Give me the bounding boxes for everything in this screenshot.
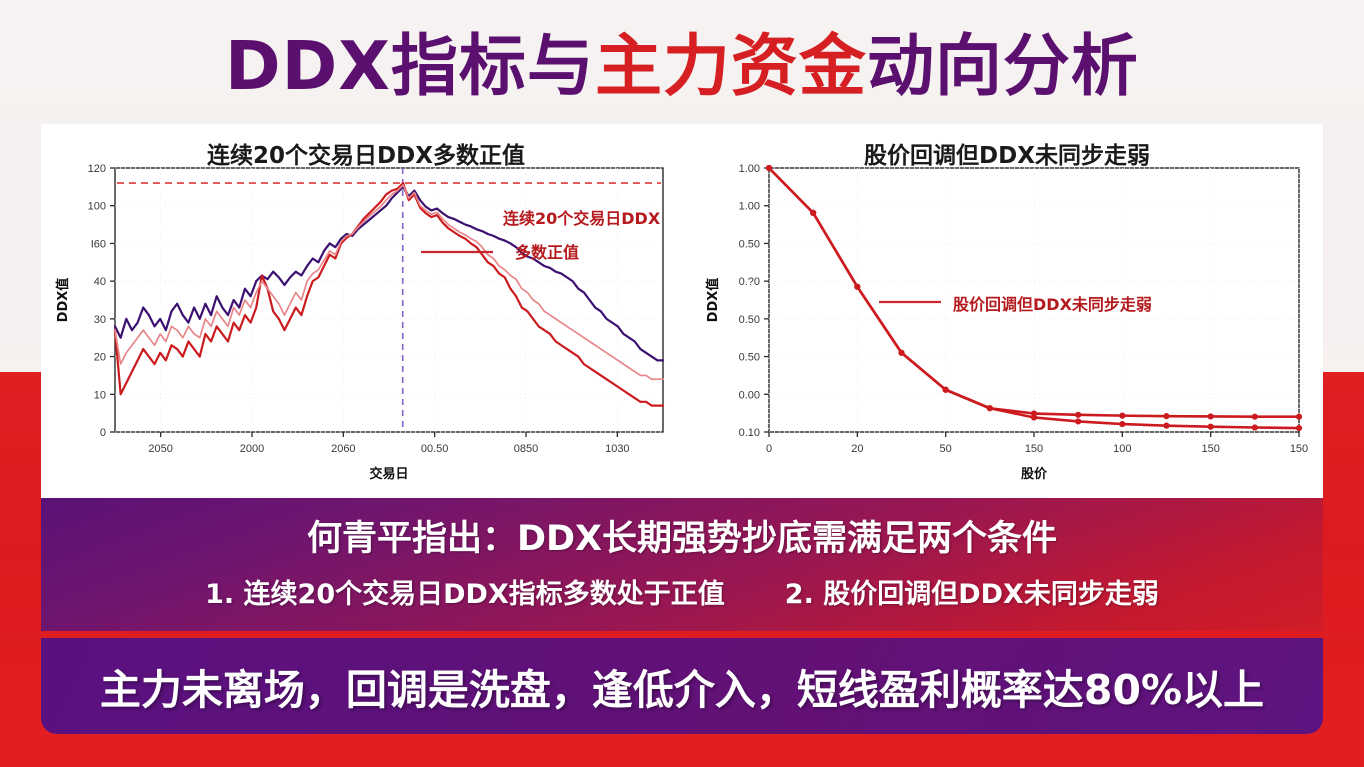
y-tick-label: 20 bbox=[94, 352, 106, 364]
y-tick-label: 1.00 bbox=[739, 163, 760, 175]
x-axis-title: 交易日 bbox=[369, 466, 408, 482]
x-tick-label: 0850 bbox=[514, 443, 538, 455]
series-marker bbox=[1119, 413, 1125, 419]
y-tick-label: 0 bbox=[100, 427, 106, 439]
chart-left-svg: 010203040I6010012020502000206000.5008501… bbox=[41, 160, 691, 498]
series-marker bbox=[898, 350, 904, 356]
series-marker bbox=[1075, 412, 1081, 418]
chart-panel-right: 股价回调但DDX未同步走弱 0.100.000.500.500.?00.501.… bbox=[691, 124, 1323, 498]
series-marker bbox=[1252, 424, 1258, 430]
y-tick-label: 0.50 bbox=[739, 352, 760, 364]
conditions-list: 1. 连续20个交易日DDX指标多数处于正值 2. 股价回调但DDX未同步走弱 bbox=[41, 572, 1323, 611]
y-tick-label: 100 bbox=[88, 201, 106, 213]
annotation-text: 股价回调但DDX未同步走弱 bbox=[953, 295, 1152, 314]
title-segment-1: DDX指标与 bbox=[225, 27, 595, 105]
series-marker bbox=[1208, 424, 1214, 430]
charts-card: 连续20个交易日DDX多数正值 010203040I60100120205020… bbox=[41, 124, 1323, 498]
series-marker bbox=[987, 405, 993, 411]
x-tick-label: 20 bbox=[851, 443, 863, 455]
x-tick-label: 2060 bbox=[331, 443, 355, 455]
series-marker bbox=[766, 165, 772, 171]
x-tick-label: 0 bbox=[766, 443, 772, 455]
background-bottom-strip bbox=[0, 735, 1364, 767]
y-tick-label: 0.?0 bbox=[739, 276, 760, 288]
x-tick-label: 00.50 bbox=[421, 443, 449, 455]
y-tick-label: 30 bbox=[94, 314, 106, 326]
y-tick-label: 0.00 bbox=[739, 389, 760, 401]
conditions-heading: 何青平指出：DDX长期强势抄底需满足两个条件 bbox=[41, 510, 1323, 561]
x-axis-title: 股价 bbox=[1021, 467, 1048, 482]
conditions-band: 何青平指出：DDX长期强势抄底需满足两个条件 1. 连续20个交易日DDX指标多… bbox=[41, 498, 1323, 631]
x-tick-label: 1030 bbox=[605, 443, 629, 455]
series-marker bbox=[1163, 413, 1169, 419]
y-tick-label: 1.00 bbox=[739, 201, 760, 213]
x-tick-label: 2000 bbox=[240, 443, 264, 455]
y-tick-label: 10 bbox=[94, 389, 106, 401]
y-tick-label: 0.10 bbox=[739, 427, 760, 439]
annotation-text-line2: 多数正值 bbox=[515, 243, 579, 262]
series-marker bbox=[1296, 414, 1302, 420]
y-tick-label: I60 bbox=[91, 238, 106, 250]
x-tick-label: 150 bbox=[1290, 443, 1308, 455]
x-tick-label: 50 bbox=[940, 443, 952, 455]
series-marker bbox=[810, 210, 816, 216]
title-segment-3: 动向分析 bbox=[867, 27, 1139, 105]
y-tick-label: 40 bbox=[94, 276, 106, 288]
series-marker bbox=[1296, 425, 1302, 431]
series-marker bbox=[1075, 418, 1081, 424]
y-axis-title: DDX值 bbox=[705, 278, 721, 323]
conclusion-text: 主力未离场，回调是洗盘，逢低介入，短线盈利概率达80%以上 bbox=[100, 656, 1264, 716]
y-tick-label: 0.50 bbox=[739, 238, 760, 250]
y-tick-label: 120 bbox=[88, 163, 106, 175]
y-tick-label: 0.50 bbox=[739, 314, 760, 326]
page-title: DDX指标与主力资金动向分析 bbox=[0, 26, 1364, 106]
series-marker bbox=[1031, 414, 1037, 420]
series-marker bbox=[1208, 413, 1214, 419]
x-tick-label: 150 bbox=[1025, 443, 1043, 455]
conclusion-band: 主力未离场，回调是洗盘，逢低介入，短线盈利概率达80%以上 bbox=[41, 638, 1323, 734]
series-marker bbox=[1119, 421, 1125, 427]
chart-right-svg: 0.100.000.500.500.?00.501.001.0002050150… bbox=[691, 160, 1323, 498]
annotation-text-line1: 连续20个交易日DDX bbox=[503, 209, 661, 228]
series-marker bbox=[854, 284, 860, 290]
x-tick-label: 150 bbox=[1201, 443, 1219, 455]
chart-panel-left: 连续20个交易日DDX多数正值 010203040I60100120205020… bbox=[41, 124, 691, 498]
series-marker bbox=[943, 387, 949, 393]
condition-item-2: 2. 股价回调但DDX未同步走弱 bbox=[785, 572, 1159, 611]
plot-frame bbox=[115, 168, 663, 432]
x-tick-label: 2050 bbox=[148, 443, 172, 455]
series-marker bbox=[1163, 423, 1169, 429]
condition-item-1: 1. 连续20个交易日DDX指标多数处于正值 bbox=[205, 572, 725, 611]
title-segment-2: 主力资金 bbox=[595, 27, 867, 105]
series-marker bbox=[1252, 414, 1258, 420]
x-tick-label: 100 bbox=[1113, 443, 1131, 455]
y-axis-title: DDX值 bbox=[55, 278, 71, 323]
